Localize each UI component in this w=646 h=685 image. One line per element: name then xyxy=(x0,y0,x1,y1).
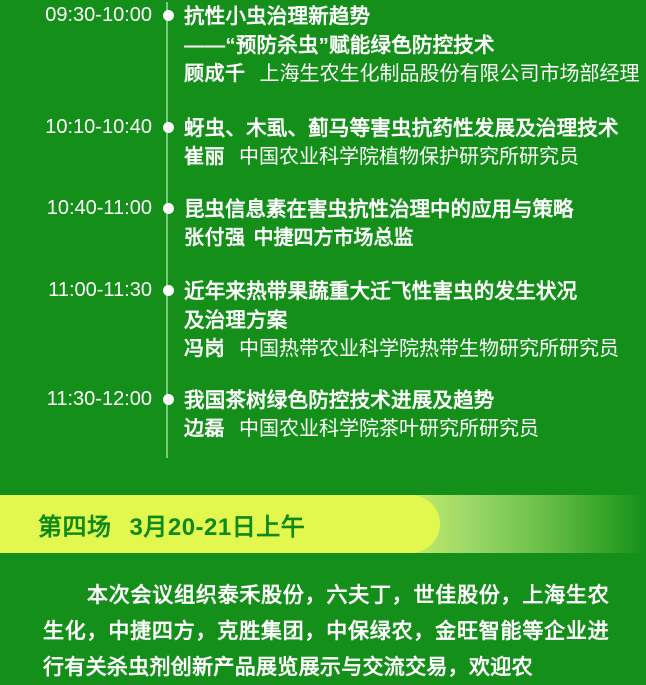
slot-speaker-line: 边磊中国农业科学院茶叶研究所研究员 xyxy=(184,415,640,444)
speaker-name: 崔丽 xyxy=(184,146,225,168)
closing-paragraph: 本次会议组织泰禾股份，六夫丁，世佳股份，上海生农生化，中捷四方，克胜集团，中保绿… xyxy=(43,578,609,685)
timeline-dot-icon xyxy=(163,285,174,296)
slot-title-line: ——“预防杀虫”赋能绿色防控技术 xyxy=(184,31,640,60)
slot-speaker-line: 张付强中捷四方市场总监 xyxy=(184,224,640,253)
slot-body: 昆虫信息素在害虫抗性治理中的应用与策略 张付强中捷四方市场总监 xyxy=(184,195,646,253)
slot-time: 10:10-10:40 xyxy=(0,114,152,140)
schedule-slot: 10:10-10:40 蚜虫、木虱、蓟马等害虫抗药性发展及治理技术 崔丽中国农业… xyxy=(0,114,646,172)
slot-title-line: 近年来热带果蔬重大迁飞性害虫的发生状况 xyxy=(184,277,640,306)
schedule-slot: 09:30-10:00 抗性小虫治理新趋势 ——“预防杀虫”赋能绿色防控技术 顾… xyxy=(0,2,646,89)
slot-speaker-line: 冯岗中国热带农业科学院热带生物研究所研究员 xyxy=(184,335,640,364)
slot-time: 10:40-11:00 xyxy=(0,195,152,221)
speaker-name: 边磊 xyxy=(184,418,225,440)
session-banner: 第四场3月20-21日上午 xyxy=(0,495,646,553)
slot-title-line: 我国茶树绿色防控技术进展及趋势 xyxy=(184,386,640,415)
speaker-org: 上海生农生化制品股份有限公司市场部经理 xyxy=(260,63,640,85)
timeline-dot-wrap xyxy=(152,195,184,214)
timeline-dot-icon xyxy=(163,203,174,214)
session-banner-date: 3月20-21日上午 xyxy=(130,507,306,542)
schedule-slot: 10:40-11:00 昆虫信息素在害虫抗性治理中的应用与策略 张付强中捷四方市… xyxy=(0,195,646,253)
slot-title-line: 及治理方案 xyxy=(184,306,640,335)
slot-title-line: 昆虫信息素在害虫抗性治理中的应用与策略 xyxy=(184,195,640,224)
timeline-dot-icon xyxy=(163,394,174,405)
speaker-org: 中捷四方市场总监 xyxy=(254,227,414,249)
timeline-dot-icon xyxy=(163,122,174,133)
slot-speaker-line: 崔丽中国农业科学院植物保护研究所研究员 xyxy=(184,143,640,172)
session-banner-label: 第四场 xyxy=(38,507,112,542)
slot-body: 我国茶树绿色防控技术进展及趋势 边磊中国农业科学院茶叶研究所研究员 xyxy=(184,386,646,444)
schedule-section: 09:30-10:00 抗性小虫治理新趋势 ——“预防杀虫”赋能绿色防控技术 顾… xyxy=(0,2,646,444)
schedule-slot: 11:30-12:00 我国茶树绿色防控技术进展及趋势 边磊中国农业科学院茶叶研… xyxy=(0,386,646,444)
slot-body: 抗性小虫治理新趋势 ——“预防杀虫”赋能绿色防控技术 顾成千上海生农生化制品股份… xyxy=(184,2,646,89)
slot-time: 11:00-11:30 xyxy=(0,277,152,303)
timeline-dot-wrap xyxy=(152,277,184,296)
conference-agenda-poster: 09:30-10:00 抗性小虫治理新趋势 ——“预防杀虫”赋能绿色防控技术 顾… xyxy=(0,0,646,685)
schedule-slot: 11:00-11:30 近年来热带果蔬重大迁飞性害虫的发生状况 及治理方案 冯岗… xyxy=(0,277,646,364)
slot-time: 09:30-10:00 xyxy=(0,2,152,28)
speaker-name: 冯岗 xyxy=(184,338,225,360)
timeline-dot-icon xyxy=(163,10,174,21)
session-banner-text: 第四场3月20-21日上午 xyxy=(38,495,305,553)
speaker-org: 中国农业科学院植物保护研究所研究员 xyxy=(239,146,579,168)
speaker-name: 顾成千 xyxy=(184,63,246,85)
timeline-dot-wrap xyxy=(152,114,184,133)
speaker-org: 中国热带农业科学院热带生物研究所研究员 xyxy=(239,338,619,360)
speaker-name: 张付强 xyxy=(184,227,246,249)
speaker-org: 中国农业科学院茶叶研究所研究员 xyxy=(239,418,539,440)
slot-speaker-line: 顾成千上海生农生化制品股份有限公司市场部经理 xyxy=(184,60,640,89)
slot-time: 11:30-12:00 xyxy=(0,386,152,412)
slot-title-line: 蚜虫、木虱、蓟马等害虫抗药性发展及治理技术 xyxy=(184,114,640,143)
slot-body: 蚜虫、木虱、蓟马等害虫抗药性发展及治理技术 崔丽中国农业科学院植物保护研究所研究… xyxy=(184,114,646,172)
timeline-dot-wrap xyxy=(152,2,184,21)
timeline-dot-wrap xyxy=(152,386,184,405)
slot-title-line: 抗性小虫治理新趋势 xyxy=(184,2,640,31)
slot-body: 近年来热带果蔬重大迁飞性害虫的发生状况 及治理方案 冯岗中国热带农业科学院热带生… xyxy=(184,277,646,364)
